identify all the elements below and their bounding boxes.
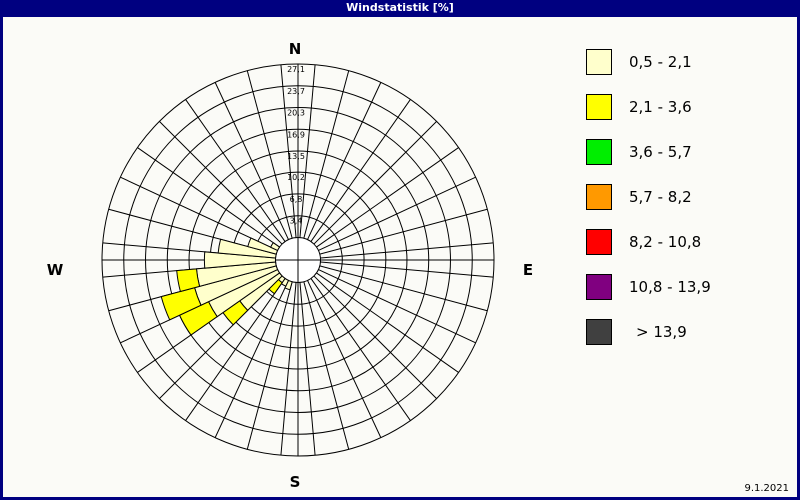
legend-swatch [586,139,612,165]
legend-item: 3,6 - 5,7 [586,129,786,174]
legend-item: 0,5 - 2,1 [586,39,786,84]
radial-tick-labels: 3,46,810,213,516,920,323,727,1 [287,65,305,226]
page-title: Windstatistik [%] [346,1,454,14]
legend-label: 0,5 - 2,1 [629,53,692,71]
legend-item: 8,2 - 10,8 [586,219,786,264]
compass-label-east: E [508,261,548,279]
legend-swatch [586,49,612,75]
radial-tick-label: 13,5 [287,152,305,161]
legend-item: 2,1 - 3,6 [586,84,786,129]
legend-swatch [586,229,612,255]
chart-canvas: 3,46,810,213,516,920,323,727,1 N S W E 0… [3,17,797,497]
compass-label-south: S [275,473,315,491]
legend-item: > 13,9 [586,309,786,354]
legend-label: 5,7 - 8,2 [629,188,692,206]
grid-spoke [304,71,349,239]
radial-tick-label: 23,7 [287,87,305,96]
window-title-bar: Windstatistik [%] [0,0,800,16]
legend-item: 5,7 - 8,2 [586,174,786,219]
radial-tick-label: 6,8 [290,195,303,204]
grid-spoke [215,82,288,239]
legend-label: 3,6 - 5,7 [629,143,692,161]
legend-label: 10,8 - 13,9 [629,278,711,296]
grid-spoke [320,266,488,311]
radial-tick-label: 10,2 [287,173,305,182]
grid-spoke [314,276,437,399]
grid-spoke [318,177,475,250]
radial-tick-label: 16,9 [287,130,305,139]
grid-spoke [308,82,381,239]
grid-spoke [247,71,292,239]
radial-tick-label: 3,4 [290,217,303,226]
compass-label-west: W [35,261,75,279]
grid-spoke [159,121,282,244]
legend-label: > 13,9 [636,323,687,341]
legend-swatch [586,94,612,120]
grid-spoke [304,282,349,450]
legend-swatch [586,184,612,210]
legend-label: 8,2 - 10,8 [629,233,701,251]
grid-spoke [314,121,437,244]
radial-tick-label: 27,1 [287,65,305,74]
legend-label: 2,1 - 3,6 [629,98,692,116]
legend-item: 10,8 - 13,9 [586,264,786,309]
grid-spoke [320,209,488,254]
date-stamp: 9.1.2021 [744,483,789,494]
legend-swatch [586,319,612,345]
grid-spoke [318,270,475,343]
legend-swatch [586,274,612,300]
grid-spoke [247,282,292,450]
compass-label-north: N [275,40,315,58]
window-root: Windstatistik [%] 3,46,810,213,516,920,3… [0,0,800,500]
radial-tick-label: 20,3 [287,109,305,118]
polar-grid [102,64,494,456]
grid-spoke [308,280,381,437]
legend: 0,5 - 2,12,1 - 3,63,6 - 5,75,7 - 8,28,2 … [586,39,786,354]
